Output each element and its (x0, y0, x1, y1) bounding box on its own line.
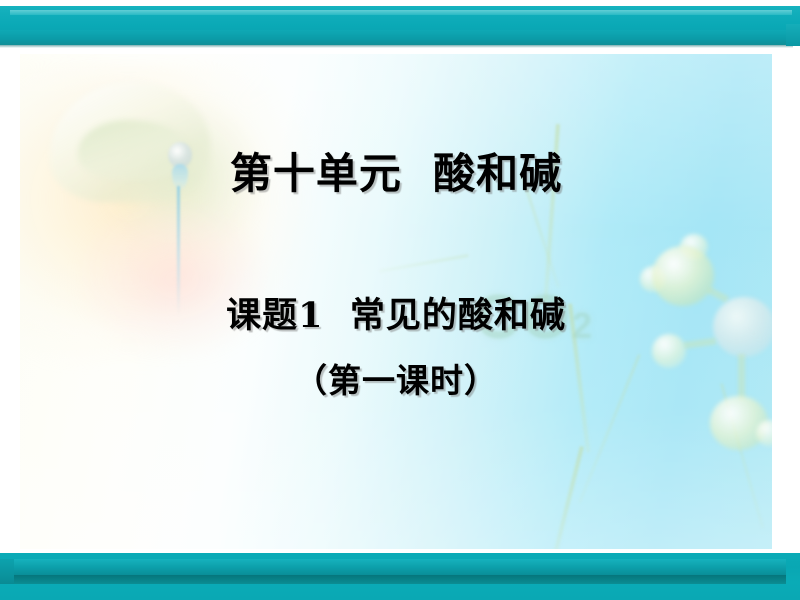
slide-title-subtitle: 课题1 常见的酸和碱 (20, 287, 772, 338)
slide-title-main: 第十单元 酸和碱 (20, 140, 772, 201)
bottom-decor-bar-dark-stripe (14, 575, 786, 584)
presentation-slide: CO2 第十单元 酸和碱 课题1 常见的酸和碱 （第一课时） (0, 0, 800, 600)
top-decor-bar-highlight (10, 10, 792, 15)
top-decor-bar-shadow (0, 45, 793, 48)
bottom-decor-bar-stripe (14, 559, 786, 575)
background-bond-line (379, 254, 468, 273)
top-decor-bar-inner (0, 30, 793, 45)
slide-content-panel: CO2 第十单元 酸和碱 课题1 常见的酸和碱 （第一课时） (20, 54, 772, 549)
top-decor-bar-tail (786, 24, 800, 46)
slide-title-lesson-period: （第一课时） (20, 354, 772, 402)
molecule-bond (684, 338, 717, 349)
